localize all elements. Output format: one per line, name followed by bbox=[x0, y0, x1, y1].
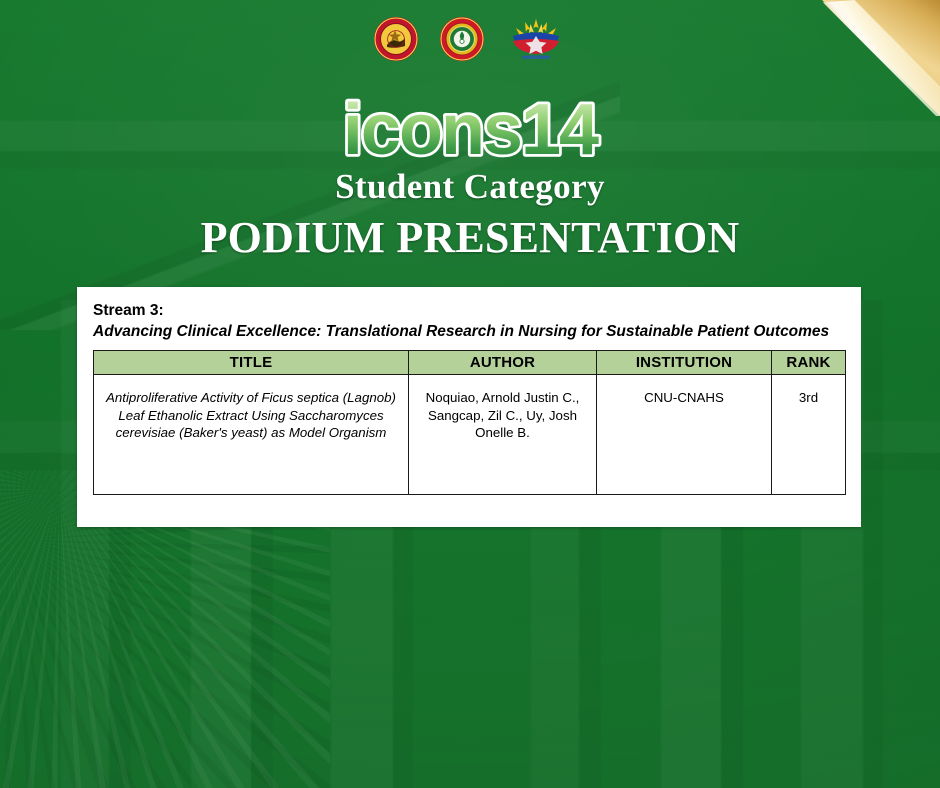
cell-title: Antiproliferative Activity of Ficus sept… bbox=[94, 374, 409, 494]
stream-label: Stream 3: bbox=[93, 301, 845, 321]
table-row: Antiproliferative Activity of Ficus sept… bbox=[94, 374, 846, 494]
table-header-row: TITLE AUTHOR INSTITUTION RANK bbox=[94, 350, 846, 374]
column-header-author: AUTHOR bbox=[409, 350, 597, 374]
cell-rank: 3rd bbox=[772, 374, 846, 494]
column-header-rank: RANK bbox=[772, 350, 846, 374]
cell-author: Noquiao, Arnold Justin C., Sangcap, Zil … bbox=[409, 374, 597, 494]
award-poster: icons14 icons14 Student Category PODIUM … bbox=[0, 0, 940, 788]
cnu-seal-logo bbox=[373, 16, 419, 62]
icons14-logo-mark: icons14 icons14 bbox=[325, 92, 615, 170]
column-header-institution: INSTITUTION bbox=[597, 350, 772, 374]
philippine-sunburst-logo bbox=[505, 16, 567, 62]
partner-seal-logo bbox=[439, 16, 485, 62]
cell-institution: CNU-CNAHS bbox=[597, 374, 772, 494]
results-card: Stream 3: Advancing Clinical Excellence:… bbox=[77, 287, 861, 527]
results-card-inner: Stream 3: Advancing Clinical Excellence:… bbox=[77, 287, 861, 495]
stream-title: Advancing Clinical Excellence: Translati… bbox=[93, 322, 845, 342]
column-header-title: TITLE bbox=[94, 350, 409, 374]
logo-row bbox=[0, 16, 940, 62]
svg-text:icons14: icons14 bbox=[343, 92, 599, 170]
title-block: Student Category PODIUM PRESENTATION bbox=[0, 168, 940, 262]
results-table-head: TITLE AUTHOR INSTITUTION RANK bbox=[94, 350, 846, 374]
results-table: TITLE AUTHOR INSTITUTION RANK Antiprolif… bbox=[93, 350, 846, 495]
icons14-logo: icons14 icons14 bbox=[0, 92, 940, 170]
podium-presentation-title: PODIUM PRESENTATION bbox=[0, 214, 940, 262]
student-category-title: Student Category bbox=[0, 168, 940, 206]
results-table-body: Antiproliferative Activity of Ficus sept… bbox=[94, 374, 846, 494]
